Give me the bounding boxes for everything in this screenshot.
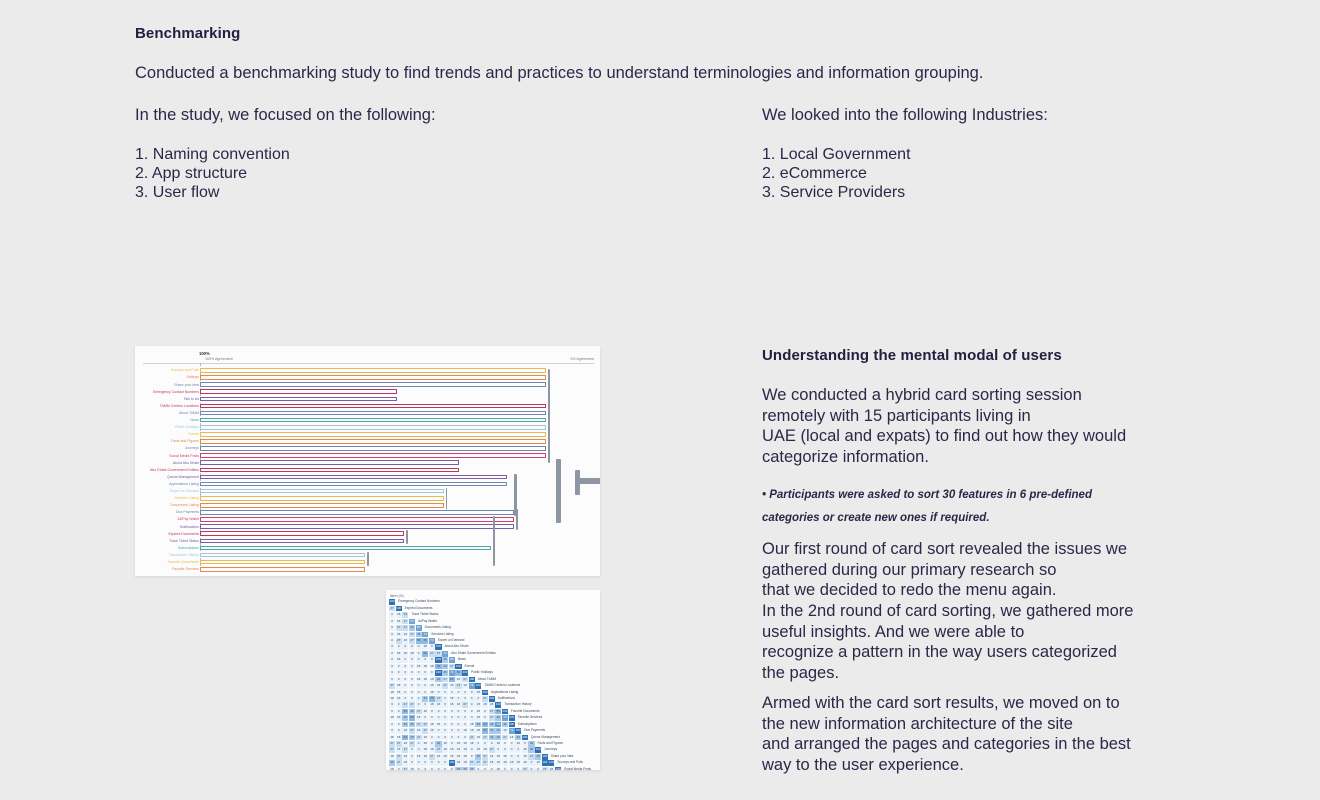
matrix-cell: 27: [396, 760, 402, 766]
matrix-cell: 18: [449, 754, 455, 760]
matrix-cell: 18: [522, 760, 528, 766]
dendrogram-merge-link: [493, 516, 495, 566]
matrix-cell: 0: [449, 735, 455, 741]
matrix-cell: 27: [482, 735, 488, 741]
matrix-cell: 0: [455, 690, 461, 696]
matrix-cell: 0: [402, 677, 408, 683]
matrix-cell: 0: [389, 664, 395, 670]
matrix-cell: 46: [489, 722, 495, 728]
dendrogram-leaf-bar: [200, 432, 546, 437]
matrix-row-label: Queue Management: [531, 735, 560, 741]
matrix-cell: 0: [442, 702, 448, 708]
information-architecture-paragraph: Armed with the card sort results, we mov…: [762, 693, 1152, 776]
dendrogram-leaf-bar: [200, 560, 365, 565]
matrix-cell: 0: [469, 747, 475, 753]
dendrogram-merge-link: [556, 459, 562, 523]
matrix-cell: 46: [475, 754, 481, 760]
dendrogram-leaf-bar: [200, 524, 514, 529]
matrix-cell: 18: [402, 760, 408, 766]
matrix-cell: 60: [482, 728, 488, 734]
matrix-cell: 0: [509, 747, 515, 753]
dendrogram-leaf-bar: [200, 517, 514, 522]
matrix-cell: 0: [509, 767, 515, 770]
matrix-cell: 0: [389, 677, 395, 683]
dendrogram-merge-link: [367, 552, 369, 566]
matrix-cell: 18: [495, 767, 501, 770]
matrix-cell: 18: [422, 735, 428, 741]
matrix-cell: 18: [396, 657, 402, 663]
matrix-cell: 0: [409, 747, 415, 753]
matrix-row: 4627180000001001818272727181818181818018…: [389, 760, 597, 766]
matrix-cell: 0: [469, 702, 475, 708]
dendrogram-leaf-label: Abu Dhabi Government Entities: [150, 467, 199, 473]
dendrogram-leaf: Surveys and Polls: [135, 367, 600, 374]
matrix-row-label: About Abu Dhabi: [445, 644, 469, 650]
matrix-row-label: Transaction History: [504, 702, 531, 708]
matrix-cell: 27: [435, 747, 441, 753]
study-focus-heading: In the study, we focused on the followin…: [135, 105, 436, 126]
matrix-cell: 18: [409, 651, 415, 657]
matrix-row-label: Notifications: [498, 696, 515, 702]
matrix-cell: 18: [509, 735, 515, 741]
matrix-cell: 100: [449, 760, 455, 766]
dendrogram-leaf: Facts and Figures: [135, 438, 600, 445]
matrix-cell: 73: [442, 651, 448, 657]
matrix-cell: 18: [396, 632, 402, 638]
matrix-cell: 18: [402, 754, 408, 760]
matrix-cell: 100: [555, 767, 561, 770]
matrix-cell: 18: [455, 702, 461, 708]
matrix-cell: 100: [489, 696, 495, 702]
dendrogram-leaf-bar: [200, 489, 444, 494]
dendrogram-leaf-label: Expert on Demand: [170, 488, 199, 494]
matrix-cell: 18: [396, 619, 402, 625]
matrix-cell: 0: [442, 722, 448, 728]
matrix-cell: 46: [495, 735, 501, 741]
dendrogram-leaf-bar: [200, 475, 507, 480]
matrix-cell: 27: [416, 735, 422, 741]
matrix-cell: 46: [515, 735, 521, 741]
dendrogram-leaf: Favorite Services: [135, 566, 600, 573]
matrix-cell: 46: [489, 728, 495, 734]
matrix-cell: 0: [469, 715, 475, 721]
matrix-cell: 27: [416, 722, 422, 728]
dendrogram-leaf: Notifications: [135, 523, 600, 530]
dendrogram-leaf-bar: [200, 389, 397, 394]
matrix-cell: 0: [515, 767, 521, 770]
matrix-cell: 18: [535, 760, 541, 766]
matrix-cell: 0: [389, 625, 395, 631]
matrix-cell: 0: [389, 644, 395, 650]
dendrogram-leaf-label: Queue Management: [167, 474, 199, 480]
matrix-cell: 0: [435, 735, 441, 741]
matrix-cell: 0: [442, 735, 448, 741]
matrix-cell: 46: [402, 722, 408, 728]
dendrogram-leaf-label: Surveys and Polls: [171, 367, 199, 373]
dendrogram-merge-link: [548, 431, 550, 463]
dendrogram-leaf-label: Emergency Contact Numbers: [153, 389, 199, 395]
matrix-cell: 0: [455, 715, 461, 721]
list-item: 3. Service Providers: [762, 183, 911, 202]
matrix-cell: 27: [429, 651, 435, 657]
matrix-cell: 18: [396, 651, 402, 657]
matrix-cell: 18: [389, 735, 395, 741]
matrix-cell: 18: [462, 747, 468, 753]
matrix-cell: 18: [475, 728, 481, 734]
matrix-cell: 18: [422, 664, 428, 670]
matrix-cell: 18: [475, 715, 481, 721]
matrix-cell: 0: [402, 683, 408, 689]
matrix-cell: 60: [422, 651, 428, 657]
dendrogram-leaf-label: Track Ticket Status: [169, 538, 199, 544]
dendrogram-leaf-label: Due Payments: [176, 509, 199, 515]
matrix-cell: 27: [389, 683, 395, 689]
dendrogram-leaf: TAMM Centers Locations: [135, 403, 600, 410]
dendrogram-root-link: [575, 478, 600, 484]
matrix-cell: 0: [455, 722, 461, 728]
matrix-cell: 18: [509, 760, 515, 766]
matrix-cell: 27: [542, 767, 548, 770]
matrix-cell: 18: [462, 760, 468, 766]
matrix-cell: 0: [462, 690, 468, 696]
matrix-cell: 0: [535, 767, 541, 770]
matrix-cell: 0: [482, 715, 488, 721]
matrix-row-label: About TAMM: [478, 677, 496, 683]
matrix-cell: 18: [482, 702, 488, 708]
matrix-cell: 46: [535, 754, 541, 760]
matrix-cell: 0: [482, 741, 488, 747]
matrix-cell: 0: [416, 683, 422, 689]
matrix-cell: 18: [462, 754, 468, 760]
matrix-cell: 18: [396, 683, 402, 689]
matrix-cell: 46: [455, 767, 461, 770]
list-item: 1. Naming convention: [135, 145, 290, 164]
matrix-cell: 18: [429, 747, 435, 753]
matrix-cell: 0: [429, 644, 435, 650]
matrix-row: 1827180181827181818181804627181818001827…: [389, 754, 597, 760]
matrix-cell: 18: [402, 728, 408, 734]
dendrogram-leaf-label: Facts and Figures: [171, 438, 199, 444]
matrix-cell: 27: [429, 754, 435, 760]
matrix-cell: 18: [389, 754, 395, 760]
dendrogram-leaf: Events: [135, 431, 600, 438]
matrix-cell: 0: [442, 696, 448, 702]
matrix-cell: 0: [422, 690, 428, 696]
matrix-cell: 0: [442, 728, 448, 734]
matrix-cell: 0: [389, 632, 395, 638]
dendrogram-leaf: Subscriptions: [135, 545, 600, 552]
matrix-cell: 46: [422, 696, 428, 702]
matrix-cell: 0: [455, 728, 461, 734]
matrix-cell: 0: [416, 760, 422, 766]
matrix-cell: 18: [502, 760, 508, 766]
matrix-cell: 73: [509, 728, 515, 734]
matrix-cell: 27: [442, 677, 448, 683]
dendrogram-canvas: 100% 100% Agreement 0% Agreement Surveys…: [135, 346, 600, 576]
matrix-cell: 60: [482, 722, 488, 728]
matrix-row-label: Surveys and Polls: [557, 760, 583, 766]
matrix-cell: 0: [416, 747, 422, 753]
matrix-cell: 0: [449, 728, 455, 734]
matrix-cell: 0: [522, 741, 528, 747]
matrix-cell: 46: [528, 747, 534, 753]
dendrogram-leaf-label: About Abu Dhabi: [173, 460, 199, 466]
matrix-cell: 18: [495, 760, 501, 766]
matrix-cell: 0: [389, 709, 395, 715]
matrix-cell: 18: [396, 747, 402, 753]
dendrogram-leaf: Social Media Posts: [135, 452, 600, 459]
matrix-cell: 46: [435, 741, 441, 747]
matrix-row-label: Journeys: [544, 747, 557, 753]
matrix-cell: 46: [495, 728, 501, 734]
dendrogram-leaf: Talk to Us: [135, 395, 600, 402]
matrix-cell: 100: [435, 670, 441, 676]
matrix-cell: 0: [396, 702, 402, 708]
matrix-cell: 46: [502, 722, 508, 728]
matrix-cell: 18: [422, 747, 428, 753]
page-root: Benchmarking Conducted a benchmarking st…: [0, 0, 1320, 800]
matrix-cell: 0: [396, 670, 402, 676]
matrix-cell: 0: [402, 644, 408, 650]
dendrogram-leaf-label: Favorite Services: [172, 566, 199, 572]
dendrogram-leaf-bar: [200, 411, 546, 416]
matrix-cell: 0: [449, 709, 455, 715]
matrix-cell: 0: [462, 696, 468, 702]
matrix-cell: 27: [402, 767, 408, 770]
matrix-row-label: Track Ticket Status: [411, 612, 438, 618]
matrix-cell: 27: [522, 767, 528, 770]
dendrogram-leaf-bar: [200, 546, 491, 551]
benchmarking-title: Benchmarking: [135, 25, 240, 42]
dendrogram-leaf: Abu Dhabi Government Entities: [135, 466, 600, 473]
dendrogram-leaf-label: Settings: [186, 374, 199, 380]
dendrogram-axis-left-sublabel: 100% Agreement: [205, 357, 233, 361]
matrix-cell: 18: [429, 702, 435, 708]
matrix-cell: 27: [396, 741, 402, 747]
matrix-cell: 0: [396, 644, 402, 650]
matrix-cell: 0: [429, 760, 435, 766]
dendrogram-leaf-label: ADPay Wallet: [178, 516, 199, 522]
matrix-cell: 0: [462, 715, 468, 721]
matrix-cell: 46: [442, 670, 448, 676]
matrix-cell: 46: [435, 677, 441, 683]
matrix-cell: 18: [495, 754, 501, 760]
dendrogram-leaf: Journeys: [135, 445, 600, 452]
matrix-cell: 27: [502, 735, 508, 741]
matrix-cell: 0: [409, 644, 415, 650]
matrix-cell: 46: [489, 735, 495, 741]
matrix-cell: 0: [462, 735, 468, 741]
matrix-cell: 56: [455, 670, 461, 676]
matrix-cell: 0: [449, 690, 455, 696]
dendrogram-leaf-bar: [200, 404, 546, 409]
dendrogram-leaf: Documents Listing: [135, 502, 600, 509]
matrix-cell: 0: [402, 690, 408, 696]
dendrogram-leaf-bar: [200, 539, 404, 544]
matrix-cell: 46: [442, 657, 448, 663]
matrix-cell: 27: [402, 702, 408, 708]
matrix-row-label: Abu Dhabi Government Entities: [451, 651, 496, 657]
matrix-cell: 27: [389, 747, 395, 753]
dendrogram-leaf-label: Talk to Us: [184, 396, 199, 402]
matrix-cell: 0: [409, 677, 415, 683]
matrix-cell: 0: [515, 754, 521, 760]
matrix-cell: 18: [416, 664, 422, 670]
dendrogram-leaf-label: Social Media Posts: [169, 453, 199, 459]
matrix-cell: 56: [435, 664, 441, 670]
matrix-cell: 100: [435, 657, 441, 663]
matrix-cell: 0: [402, 664, 408, 670]
matrix-cell: 0: [416, 690, 422, 696]
industries-list: 1. Local Government 2. eCommerce 3. Serv…: [762, 145, 911, 202]
matrix-cell: 18: [502, 728, 508, 734]
matrix-cell: 0: [462, 709, 468, 715]
matrix-cell: 46: [469, 767, 475, 770]
matrix-cell: 18: [416, 754, 422, 760]
matrix-cell: 27: [396, 754, 402, 760]
matrix-cell: 27: [396, 625, 402, 631]
matrix-cell: 0: [389, 728, 395, 734]
dendrogram-merge-link: [446, 488, 448, 509]
matrix-cell: 27: [422, 728, 428, 734]
matrix-cell: 0: [462, 722, 468, 728]
matrix-row-label: Expired Documents: [405, 606, 433, 612]
dendrogram-leaf-bar: [200, 553, 365, 558]
dendrogram-leaf-bar: [200, 567, 365, 572]
dendrogram-leaf-label: Services Listing: [174, 495, 199, 501]
matrix-cell: 27: [409, 632, 415, 638]
matrix-cell: 0: [455, 709, 461, 715]
matrix-cell: 0: [389, 651, 395, 657]
matrix-cell: 100: [509, 722, 515, 728]
matrix-cell: 27: [489, 715, 495, 721]
dendrogram-leaf: News: [135, 417, 600, 424]
matrix-cell: 18: [455, 747, 461, 753]
matrix-cell: 0: [409, 690, 415, 696]
matrix-cell: 18: [402, 638, 408, 644]
matrix-cell: 18: [435, 754, 441, 760]
matrix-cell: 0: [389, 657, 395, 663]
matrix-cell: 0: [509, 754, 515, 760]
matrix-cell: 0: [449, 767, 455, 770]
matrix-cell: 46: [475, 722, 481, 728]
matrix-cell: 18: [396, 735, 402, 741]
matrix-cell: 18: [548, 767, 554, 770]
matrix-cell: 0: [435, 760, 441, 766]
matrix-cell: 18: [475, 690, 481, 696]
dendrogram-leaf: Public Holidays: [135, 424, 600, 431]
matrix-cell: 0: [396, 722, 402, 728]
matrix-cell: 0: [429, 657, 435, 663]
dendrogram-leaf: Due Payments: [135, 509, 600, 516]
matrix-cell: 0: [416, 702, 422, 708]
matrix-cell: 73: [469, 683, 475, 689]
matrix-cell: 27: [489, 709, 495, 715]
matrix-cell: 27: [402, 625, 408, 631]
matrix-cell: 0: [489, 767, 495, 770]
matrix-cell: 0: [509, 741, 515, 747]
matrix-cell: 18: [455, 677, 461, 683]
matrix-cell: 0: [515, 747, 521, 753]
dendrogram-leaf-label: Share your idea: [174, 382, 199, 388]
matrix-cell: 0: [482, 709, 488, 715]
dendrogram-leaf: Track Ticket Status: [135, 537, 600, 544]
matrix-cell: 27: [482, 754, 488, 760]
list-item: 1. Local Government: [762, 145, 911, 164]
matrix-cell: 0: [502, 767, 508, 770]
matrix-cell: 27: [409, 741, 415, 747]
matrix-cell: 0: [442, 690, 448, 696]
matrix-cell: 46: [528, 741, 534, 747]
industries-heading: We looked into the following Industries:: [762, 105, 1048, 126]
matrix-cell: 0: [429, 767, 435, 770]
matrix-cell: 100: [515, 728, 521, 734]
matrix-cell: 18: [422, 741, 428, 747]
dendrogram-leaf: Expert on Demand: [135, 488, 600, 495]
matrix-cell: 0: [475, 741, 481, 747]
matrix-cell: 18: [482, 747, 488, 753]
matrix-cell: 27: [462, 677, 468, 683]
matrix-cell: 27: [416, 709, 422, 715]
dendrogram-leaf: About TAMM: [135, 410, 600, 417]
matrix-cell: 18: [416, 728, 422, 734]
matrix-cell: 0: [416, 670, 422, 676]
matrix-cell: 0: [416, 696, 422, 702]
matrix-cell: 54: [402, 709, 408, 715]
matrix-cell: 18: [489, 702, 495, 708]
matrix-row-label: Emergency Contact Numbers: [398, 599, 440, 605]
matrix-row-label: AdPay Wallet: [418, 619, 437, 625]
matrix-cell: 0: [422, 767, 428, 770]
matrix-cell: 18: [522, 747, 528, 753]
matrix-cell: 0: [422, 683, 428, 689]
matrix-cell: 0: [416, 644, 422, 650]
matrix-cell: 73: [502, 715, 508, 721]
matrix-cell: 0: [455, 696, 461, 702]
matrix-cell: 0: [429, 741, 435, 747]
matrix-cell: 0: [416, 651, 422, 657]
matrix-cell: 0: [422, 715, 428, 721]
matrix-cell: 0: [396, 677, 402, 683]
matrix-cell: 18: [435, 702, 441, 708]
matrix-cell: 18: [449, 696, 455, 702]
matrix-row-label: Expert on Demand: [438, 638, 465, 644]
matrix-cell: 0: [435, 767, 441, 770]
matrix-cell: 27: [455, 683, 461, 689]
matrix-cell: 0: [449, 722, 455, 728]
matrix-cell: 18: [402, 741, 408, 747]
matrix-cell: 18: [389, 715, 395, 721]
matrix-cell: 18: [522, 754, 528, 760]
dendrogram-leaf-label: Notifications: [180, 524, 199, 530]
matrix-cell: 0: [442, 767, 448, 770]
matrix-cell: 27: [402, 619, 408, 625]
matrix-cell: 18: [455, 754, 461, 760]
matrix-cell: 18: [442, 741, 448, 747]
dendrogram-leaf-bar: [200, 482, 507, 487]
dendrogram-axis-rule: [143, 363, 594, 364]
matrix-cell: 0: [396, 767, 402, 770]
matrix-cell: 46: [409, 722, 415, 728]
matrix-cell: 0: [449, 715, 455, 721]
matrix-cell: 73: [449, 670, 455, 676]
matrix-cell: 0: [429, 715, 435, 721]
matrix-row-label: TAMM Centers Locations: [484, 683, 520, 689]
matrix-cell: 18: [396, 690, 402, 696]
matrix-cell: 27: [396, 638, 402, 644]
mental-model-title: Understanding the mental modal of users: [762, 347, 1062, 364]
matrix-cell: 18: [455, 741, 461, 747]
